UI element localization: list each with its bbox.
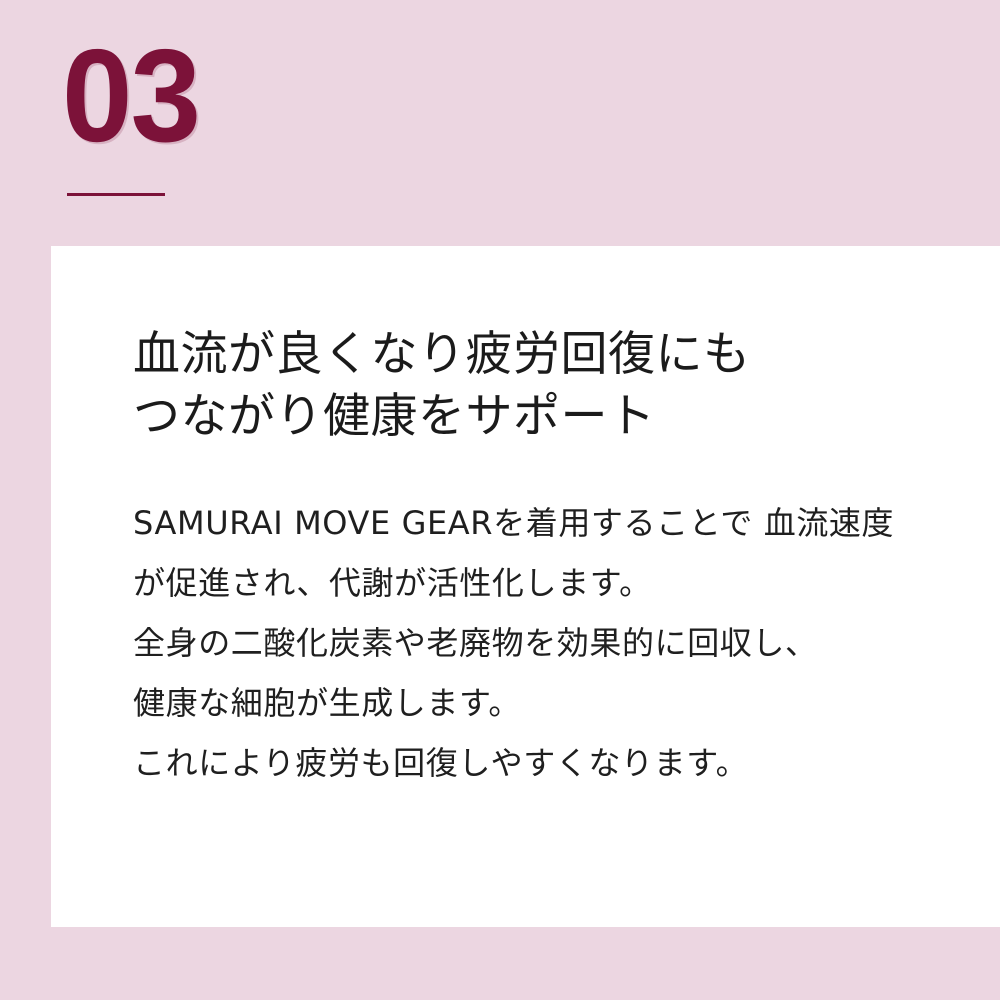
card-inner: 血流が良くなり疲労回復にも つながり健康をサポート SAMURAI MOVE G… xyxy=(133,324,970,793)
content-card: 血流が良くなり疲労回復にも つながり健康をサポート SAMURAI MOVE G… xyxy=(51,246,1000,927)
body-line-5: これにより疲労も回復しやすくなります。 xyxy=(133,733,970,793)
page-root: 03 血流が良くなり疲労回復にも つながり健康をサポート SAMURAI MOV… xyxy=(0,0,1000,1000)
section-marker: 03 xyxy=(62,30,482,220)
body-line-1: SAMURAI MOVE GEARを着用することで 血流速度 xyxy=(133,493,970,553)
body-line-4: 健康な細胞が生成します。 xyxy=(133,673,970,733)
body-line-2: が促進され、代謝が活性化します。 xyxy=(133,553,970,613)
body-copy: SAMURAI MOVE GEARを着用することで 血流速度 が促進され、代謝が… xyxy=(133,448,970,793)
body-line-3: 全身の二酸化炭素や老廃物を効果的に回収し、 xyxy=(133,613,970,673)
headline: 血流が良くなり疲労回復にも つながり健康をサポート xyxy=(133,324,970,448)
section-number: 03 xyxy=(62,30,465,162)
headline-line-1: 血流が良くなり疲労回復にも xyxy=(133,324,970,386)
section-divider-rule xyxy=(67,193,165,196)
headline-line-2: つながり健康をサポート xyxy=(133,386,970,448)
